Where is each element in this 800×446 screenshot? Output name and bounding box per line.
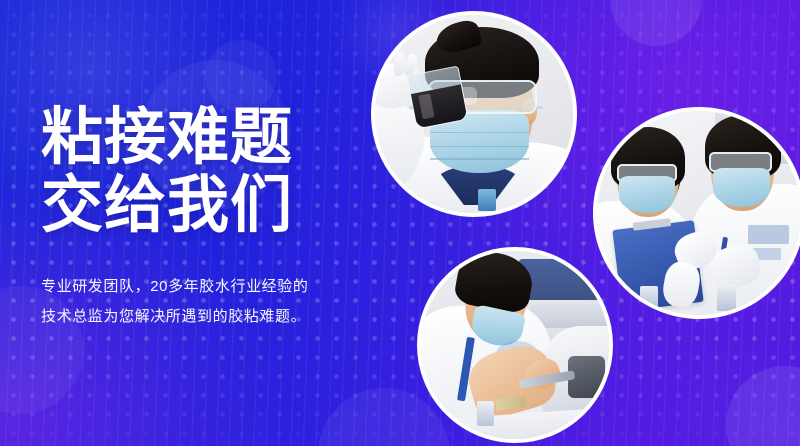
photo-scientist-with-beaker: [371, 11, 577, 217]
banner-copy-block: 粘接难题 交给我们 专业研发团队，20多年胶水行业经验的 技术总监为您解决所遇到…: [41, 104, 361, 332]
hero-banner: 粘接难题 交给我们 专业研发团队，20多年胶水行业经验的 技术总监为您解决所遇到…: [0, 0, 800, 446]
beaker: [406, 66, 469, 131]
face-mask: [713, 168, 770, 207]
id-badge: [640, 286, 658, 310]
mask-pleat: [430, 146, 529, 148]
coat-logo: [748, 225, 789, 243]
mask-pleat: [430, 132, 529, 134]
headline-line-1: 粘接难题: [41, 103, 293, 172]
headline: 粘接难题 交给我们: [41, 104, 361, 240]
mask-pleat: [430, 158, 529, 160]
photo-technicians-reviewing-clipboard: [593, 107, 800, 319]
id-badge: [717, 284, 735, 311]
wall-shelf: [519, 259, 609, 300]
subtitle-line-1: 专业研发团队，20多年胶水行业经验的: [41, 278, 309, 295]
subtitle-line-2: 技术总监为您解决所遇到的胶粘难题。: [41, 308, 306, 325]
background-glow-circle: [610, 0, 702, 46]
background-glow-circle: [726, 366, 800, 446]
headline-line-2: 交给我们: [41, 171, 293, 240]
headline-line-2-wrap: 交给我们: [41, 172, 293, 240]
face-mask: [619, 176, 674, 213]
id-badge: [477, 401, 494, 425]
id-badge: [478, 189, 496, 211]
photo-technician-at-lab-equipment: [417, 247, 613, 443]
background-glow-circle: [205, 40, 277, 112]
subtitle: 专业研发团队，20多年胶水行业经验的 技术总监为您解决所遇到的胶粘难题。: [41, 272, 361, 332]
